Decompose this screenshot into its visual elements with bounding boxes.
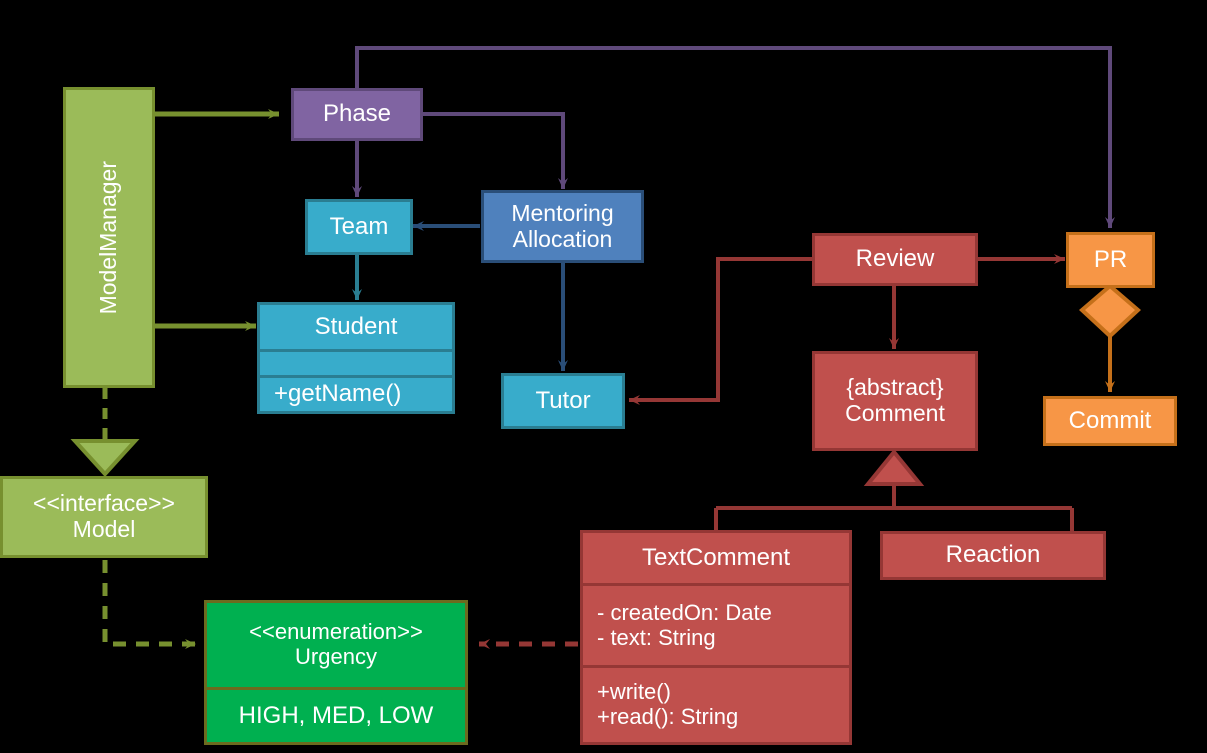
class-name-phase: Phase	[294, 91, 420, 138]
edge-modelmanager-model	[75, 388, 135, 474]
class-name-student: Student	[260, 305, 452, 349]
class-model[interactable]: <<interface>> Model	[0, 476, 208, 558]
class-operations-student: +getName()	[260, 375, 452, 411]
class-stereotype-model: <<interface>>	[33, 491, 175, 517]
class-name-tutor: Tutor	[504, 376, 622, 426]
class-modifier-comment: {abstract}	[846, 375, 943, 401]
class-review[interactable]: Review	[812, 233, 978, 286]
class-comment[interactable]: {abstract} Comment	[812, 351, 978, 451]
edge-review-tutor	[629, 259, 812, 400]
class-name-textcomment: TextComment	[583, 533, 849, 583]
class-name-pr: PR	[1069, 235, 1152, 285]
class-operations-textcomment: +write() +read(): String	[583, 665, 849, 742]
class-name-commit: Commit	[1046, 399, 1174, 443]
class-name-review: Review	[815, 236, 975, 283]
class-literals-urgency: HIGH, MED, LOW	[207, 687, 465, 742]
class-name-team: Team	[308, 202, 410, 252]
class-stereotype-urgency: <<enumeration>>	[249, 620, 423, 645]
class-attributes-student	[260, 349, 452, 375]
class-name-mentoring-allocation: Mentoring Allocation	[484, 193, 641, 260]
class-commit[interactable]: Commit	[1043, 396, 1177, 446]
uml-diagram-canvas: ModelManager Phase Team Mentoring Alloca…	[0, 0, 1207, 753]
class-student[interactable]: Student +getName()	[257, 302, 455, 414]
class-name-urgency: <<enumeration>> Urgency	[207, 603, 465, 687]
edge-phase-pr	[357, 48, 1110, 228]
class-phase[interactable]: Phase	[291, 88, 423, 141]
edge-model-urgency	[105, 560, 196, 644]
class-name-model: <<interface>> Model	[3, 479, 205, 555]
class-textcomment[interactable]: TextComment - createdOn: Date - text: St…	[580, 530, 852, 745]
edge-generalization-comment	[716, 452, 1072, 531]
class-tutor[interactable]: Tutor	[501, 373, 625, 429]
class-name-comment: {abstract} Comment	[815, 354, 975, 448]
class-reaction[interactable]: Reaction	[880, 531, 1106, 580]
class-urgency[interactable]: <<enumeration>> Urgency HIGH, MED, LOW	[204, 600, 468, 745]
class-modelmanager[interactable]: ModelManager	[63, 87, 155, 388]
class-name-reaction: Reaction	[883, 534, 1103, 577]
class-attributes-textcomment: - createdOn: Date - text: String	[583, 583, 849, 665]
class-mentoring-allocation[interactable]: Mentoring Allocation	[481, 190, 644, 263]
edge-pr-commit	[1082, 286, 1138, 392]
class-name-modelmanager: ModelManager	[66, 90, 152, 385]
class-team[interactable]: Team	[305, 199, 413, 255]
edge-phase-mentoringallocation	[423, 114, 563, 189]
class-pr[interactable]: PR	[1066, 232, 1155, 288]
